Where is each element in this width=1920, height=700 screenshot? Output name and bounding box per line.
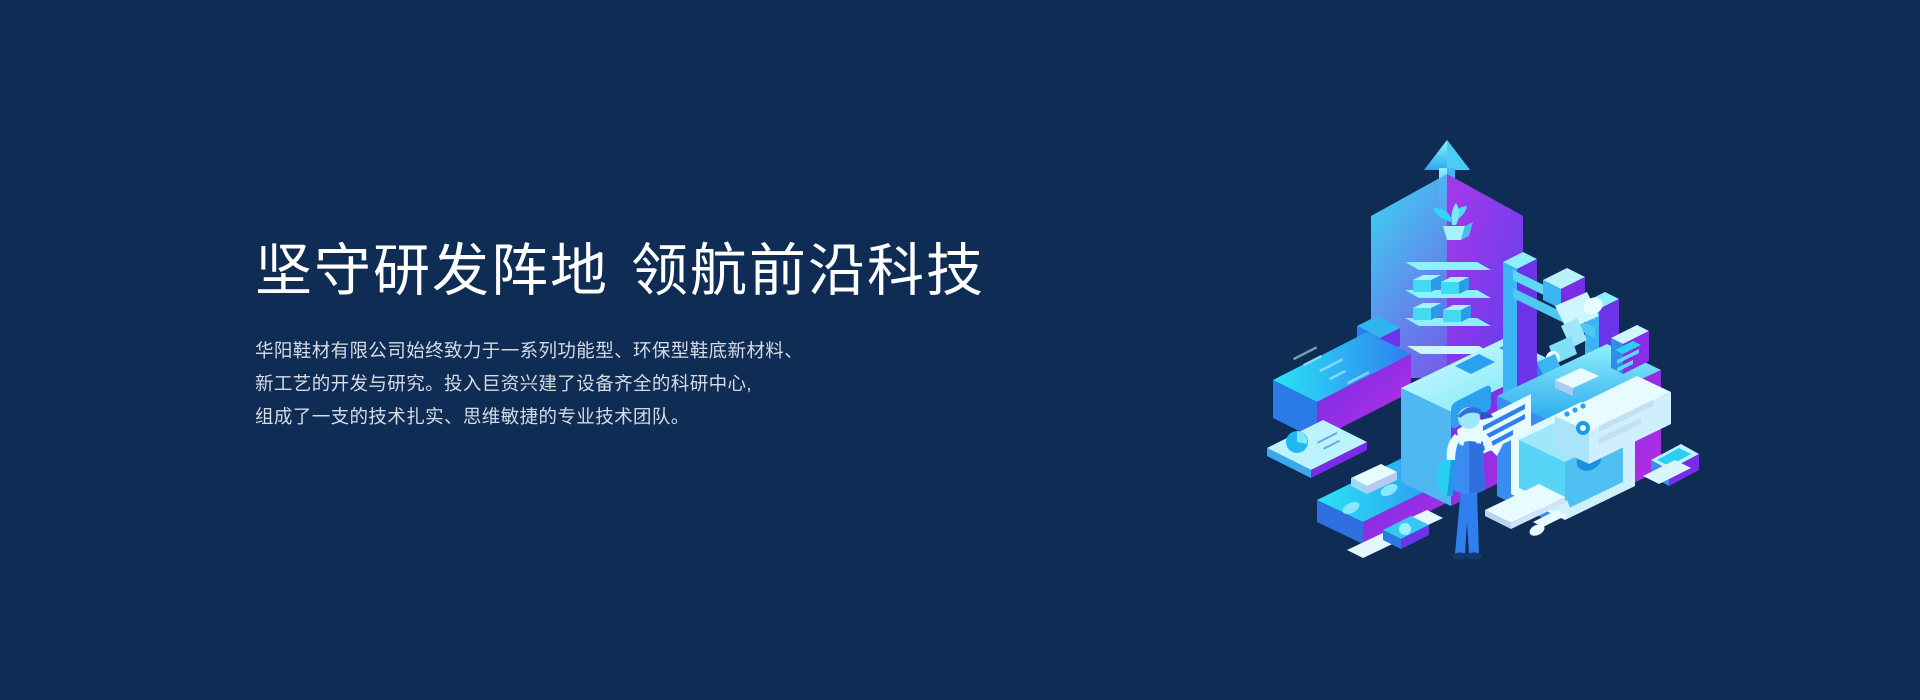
hero-description: 华阳鞋材有限公司始终致力于一系列功能型、环保型鞋底新材料、 新工艺的开发与研究。… xyxy=(255,334,1075,433)
hero-description-line-2: 新工艺的开发与研究。投入巨资兴建了设备齐全的科研中心, xyxy=(255,367,1075,400)
hero-description-line-3: 组成了一支的技术扎实、思维敏捷的专业技术团队。 xyxy=(255,400,1075,433)
headline-part-2: 领航前沿科技 xyxy=(631,239,985,303)
isometric-smart-factory-illustration xyxy=(1255,130,1715,570)
hero-description-line-1: 华阳鞋材有限公司始终致力于一系列功能型、环保型鞋底新材料、 xyxy=(255,334,1075,367)
headline-part-1: 坚守研发阵地 xyxy=(255,239,609,303)
server-rack-panel xyxy=(1273,332,1411,440)
hero-text-block: 坚守研发阵地领航前沿科技 华阳鞋材有限公司始终致力于一系列功能型、环保型鞋底新材… xyxy=(255,240,1075,433)
page-title: 坚守研发阵地领航前沿科技 xyxy=(255,240,1075,304)
illustration-svg xyxy=(1255,130,1715,570)
smartphone-with-pie-chart xyxy=(1267,420,1367,478)
hero-banner: 坚守研发阵地领航前沿科技 华阳鞋材有限公司始终致力于一系列功能型、环保型鞋底新材… xyxy=(0,0,1920,700)
